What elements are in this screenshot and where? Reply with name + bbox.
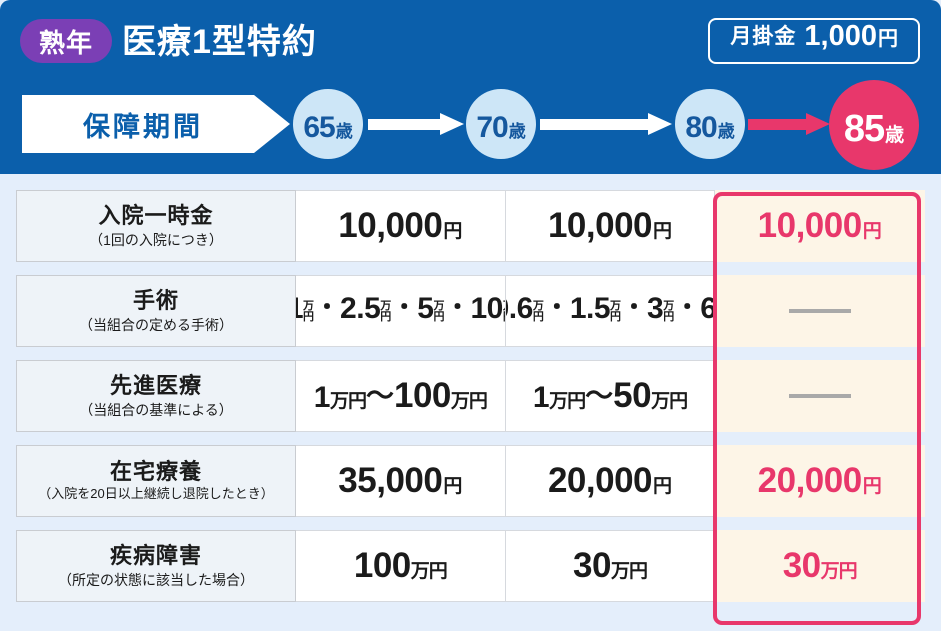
benefit-amount: 6 bbox=[700, 292, 715, 326]
benefit-value-cell-65: 10,000 円 bbox=[296, 190, 506, 262]
benefit-amount-unit: 万円 bbox=[611, 556, 647, 583]
benefit-amount: 20,000 bbox=[548, 461, 652, 501]
age-marker-80-value: 80 bbox=[685, 111, 716, 145]
unit-man-en: 万 円 bbox=[533, 301, 544, 323]
range-tilde: 〜 bbox=[366, 374, 394, 414]
list-separator: ・ bbox=[445, 287, 469, 322]
benefit-value-cell-65: 1 万円 〜 100 万円 bbox=[296, 360, 506, 432]
benefit-amount-unit: 円 bbox=[443, 471, 462, 498]
benefit-label-cell: 入院一時金 （1回の入院につき） bbox=[16, 190, 296, 262]
unit-man-en: 万 円 bbox=[433, 301, 444, 323]
benefit-amount-to: 100 bbox=[394, 376, 451, 416]
no-benefit-dash-icon bbox=[789, 394, 851, 398]
age-marker-65-unit: 歳 bbox=[336, 117, 353, 142]
benefit-amount: 10,000 bbox=[338, 206, 442, 246]
benefit-amount-unit: 円 bbox=[443, 216, 462, 243]
benefit-value-cell-70: 30 万円 bbox=[506, 530, 716, 602]
benefit-amount-unit: 万円 bbox=[451, 386, 487, 413]
benefit-label-cell: 手術 （当組合の定める手術） bbox=[16, 275, 296, 347]
coverage-period-label: 保障期間 bbox=[22, 95, 290, 153]
age-marker-85-unit: 歳 bbox=[885, 120, 904, 147]
benefit-label-cell: 疾病障害 （所定の状態に該当した場合） bbox=[16, 530, 296, 602]
benefit-table: 入院一時金 （1回の入院につき） 10,000 円 10,000 円 10,00… bbox=[16, 190, 925, 602]
unit-man-en: 万 円 bbox=[610, 301, 621, 323]
benefit-value-cell-65: 35,000 円 bbox=[296, 445, 506, 517]
coverage-timeline: 保障期間 65 歳 70 歳 80 歳 bbox=[0, 82, 941, 174]
table-row: 疾病障害 （所定の状態に該当した場合） 100 万円 30 万円 30 万円 bbox=[16, 530, 925, 602]
benefit-name: 先進医療 bbox=[110, 373, 202, 398]
benefit-amount-unit: 円 bbox=[863, 471, 882, 498]
benefit-value-cell-70: 10,000 円 bbox=[506, 190, 716, 262]
list-separator: ・ bbox=[392, 287, 416, 322]
benefit-value-cell-80: 10,000 円 bbox=[715, 190, 925, 262]
benefit-amount: 0.6 bbox=[506, 292, 533, 326]
age-marker-80: 80 歳 bbox=[675, 89, 745, 159]
benefit-amount: 30 bbox=[573, 546, 611, 586]
benefit-amount: 10,000 bbox=[758, 206, 862, 246]
table-row: 手術 （当組合の定める手術） 1 万 円 ・ 2.5 万 円 ・ bbox=[16, 275, 925, 347]
list-separator: ・ bbox=[675, 287, 699, 322]
benefit-value-cell-65: 100 万円 bbox=[296, 530, 506, 602]
benefit-amount-unit: 万円 bbox=[411, 556, 447, 583]
table-row: 在宅療養 （入院を20日以上継続し退院したとき） 35,000 円 20,000… bbox=[16, 445, 925, 517]
monthly-premium-badge: 月掛金 1,000 円 bbox=[708, 18, 920, 64]
benefit-amount-from: 1 bbox=[314, 381, 330, 415]
benefit-amount-unit: 円 bbox=[653, 471, 672, 498]
table-row: 先進医療 （当組合の基準による） 1 万円 〜 100 万円 1 万円 〜 50 bbox=[16, 360, 925, 432]
benefit-value-cell-80: 20,000 円 bbox=[715, 445, 925, 517]
monthly-premium-label: 月掛金 bbox=[730, 20, 796, 50]
list-separator: ・ bbox=[545, 287, 569, 322]
plan-badge: 熟年 bbox=[20, 19, 112, 63]
benefit-amount: 10,000 bbox=[548, 206, 652, 246]
benefit-amount-from: 1 bbox=[533, 381, 549, 415]
plan-header-top: 熟年 医療1型特約 月掛金 1,000 円 bbox=[0, 0, 941, 82]
plan-header: 熟年 医療1型特約 月掛金 1,000 円 保障期間 65 歳 70 歳 bbox=[0, 0, 941, 174]
benefit-name: 在宅療養 bbox=[110, 459, 202, 484]
benefit-name: 疾病障害 bbox=[110, 543, 202, 568]
benefit-note: （当組合の基準による） bbox=[79, 401, 233, 419]
age-marker-65-value: 65 bbox=[303, 111, 334, 145]
benefit-value-cell-80 bbox=[715, 275, 925, 347]
benefit-amount-unit: 円 bbox=[863, 216, 882, 243]
monthly-premium-amount: 1,000 bbox=[804, 20, 877, 53]
no-benefit-dash-icon bbox=[789, 309, 851, 313]
age-marker-65: 65 歳 bbox=[293, 89, 363, 159]
unit-man-en: 万 円 bbox=[380, 301, 391, 323]
list-separator: ・ bbox=[315, 287, 339, 322]
benefit-value-cell-80 bbox=[715, 360, 925, 432]
age-marker-70-unit: 歳 bbox=[509, 117, 526, 142]
unit-man-en: 万 円 bbox=[663, 301, 674, 323]
benefit-amount-unit: 万円 bbox=[330, 386, 366, 413]
age-marker-70-value: 70 bbox=[476, 111, 507, 145]
benefit-amount-to: 50 bbox=[613, 376, 651, 416]
timeline-arrow-80-85-icon bbox=[748, 113, 830, 135]
benefit-value-cell-70: 1 万円 〜 50 万円 bbox=[506, 360, 716, 432]
benefit-amount: 3 bbox=[647, 292, 663, 326]
benefit-amount: 20,000 bbox=[758, 461, 862, 501]
benefit-amount: 2.5 bbox=[340, 292, 380, 326]
benefit-amount-unit: 万円 bbox=[651, 386, 687, 413]
benefit-amount-unit: 円 bbox=[653, 216, 672, 243]
age-marker-80-unit: 歳 bbox=[718, 117, 735, 142]
benefit-amount-unit: 万円 bbox=[821, 556, 857, 583]
benefit-note: （当組合の定める手術） bbox=[79, 316, 233, 334]
benefit-name: 入院一時金 bbox=[98, 203, 213, 228]
table-row: 入院一時金 （1回の入院につき） 10,000 円 10,000 円 10,00… bbox=[16, 190, 925, 262]
benefit-summary-page: 熟年 医療1型特約 月掛金 1,000 円 保障期間 65 歳 70 歳 bbox=[0, 0, 941, 631]
benefit-value-cell-70: 20,000 円 bbox=[506, 445, 716, 517]
benefit-note: （所定の状態に該当した場合） bbox=[58, 571, 254, 589]
list-separator: ・ bbox=[622, 287, 646, 322]
age-marker-85: 85 歳 bbox=[829, 80, 919, 170]
benefit-amount: 1 bbox=[296, 292, 303, 326]
timeline-arrow-70-80-icon bbox=[540, 113, 672, 135]
benefit-amount: 1.5 bbox=[570, 292, 610, 326]
benefit-amount: 30 bbox=[783, 546, 821, 586]
benefit-amount: 10 bbox=[470, 292, 502, 326]
timeline-arrow-65-70-icon bbox=[368, 113, 464, 135]
benefit-amount: 35,000 bbox=[338, 461, 442, 501]
benefit-value-cell-65: 1 万 円 ・ 2.5 万 円 ・ 5 万 円 bbox=[296, 275, 506, 347]
benefit-label-cell: 在宅療養 （入院を20日以上継続し退院したとき） bbox=[16, 445, 296, 517]
benefit-amount: 5 bbox=[417, 292, 433, 326]
benefit-name: 手術 bbox=[133, 288, 179, 313]
range-tilde: 〜 bbox=[585, 374, 613, 414]
page-title: 医療1型特約 bbox=[122, 14, 317, 63]
monthly-premium-unit: 円 bbox=[878, 22, 898, 51]
benefit-amount: 100 bbox=[354, 546, 411, 586]
benefit-label-cell: 先進医療 （当組合の基準による） bbox=[16, 360, 296, 432]
unit-man-en: 万 円 bbox=[303, 301, 314, 323]
benefit-value-cell-70: 0.6 万 円 ・ 1.5 万 円 ・ 3 万 円 bbox=[506, 275, 716, 347]
age-marker-85-value: 85 bbox=[844, 108, 884, 151]
benefit-amount-unit: 万円 bbox=[549, 386, 585, 413]
benefit-note: （入院を20日以上継続し退院したとき） bbox=[38, 486, 273, 503]
benefit-value-cell-80: 30 万円 bbox=[715, 530, 925, 602]
benefit-note: （1回の入院につき） bbox=[89, 231, 223, 249]
age-marker-70: 70 歳 bbox=[466, 89, 536, 159]
